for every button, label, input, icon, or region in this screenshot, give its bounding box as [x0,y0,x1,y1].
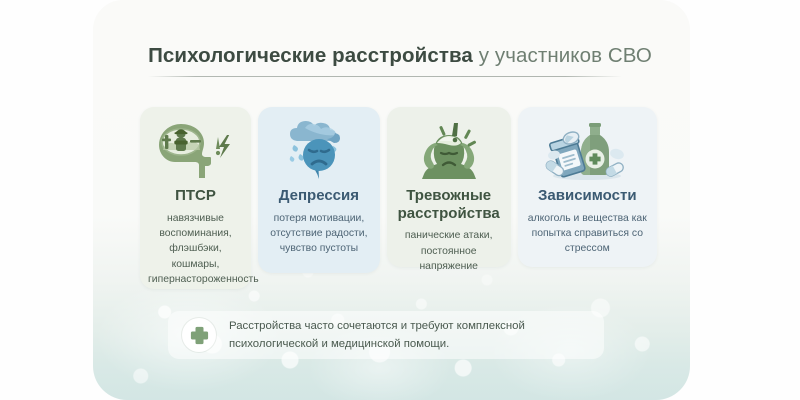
page-title-rest: у участников СВО [473,44,652,67]
page-title: Психологические расстройства у участнико… [0,44,800,69]
sad-face-rain-cloud-icon [264,119,374,183]
summary-note-line-1: Расстройства часто сочетаются и требуют … [229,317,525,335]
disorder-card-addictions[interactable]: Зависимости алкоголь и вещества как попы… [518,107,657,267]
disorder-card-description: навязчивые воспоминания, флэшбэки, кошма… [146,211,245,288]
infographic-stage: Психологические расстройства у участнико… [0,0,800,400]
disorder-card-list: ПТСР навязчивые воспоминания, флэшбэки, … [140,107,657,289]
disorder-card-title: Тревожные расстройства [393,187,505,222]
disorder-card-title: Депрессия [264,187,374,205]
disorder-card-ptsr[interactable]: ПТСР навязчивые воспоминания, флэшбэки, … [140,107,251,289]
disorder-card-description: потеря мотивации, отсутствие радости, чу… [264,211,374,257]
disorder-card-anxiety[interactable]: Тревожные расстройства панические атаки,… [387,107,511,267]
head-soldier-icon [146,119,245,183]
summary-note: Расстройства часто сочетаются и требуют … [168,311,604,359]
title-divider [148,76,622,77]
page-title-strong: Психологические расстройства [148,44,473,67]
disorder-card-description: панические атаки, постоянное напряжение [393,228,505,274]
medical-cross-icon [182,318,216,352]
summary-note-line-2: психологической и медицинской помощи. [229,335,525,353]
summary-note-text: Расстройства часто сочетаются и требуют … [229,317,525,354]
disorder-card-title: Зависимости [524,187,651,205]
bottle-pills-icon [524,119,651,183]
stressed-person-icon [393,119,505,183]
disorder-card-title: ПТСР [146,187,245,205]
disorder-card-depression[interactable]: Депрессия потеря мотивации, отсутствие р… [258,107,380,273]
disorder-card-description: алкоголь и вещества как попытка справить… [524,211,651,257]
